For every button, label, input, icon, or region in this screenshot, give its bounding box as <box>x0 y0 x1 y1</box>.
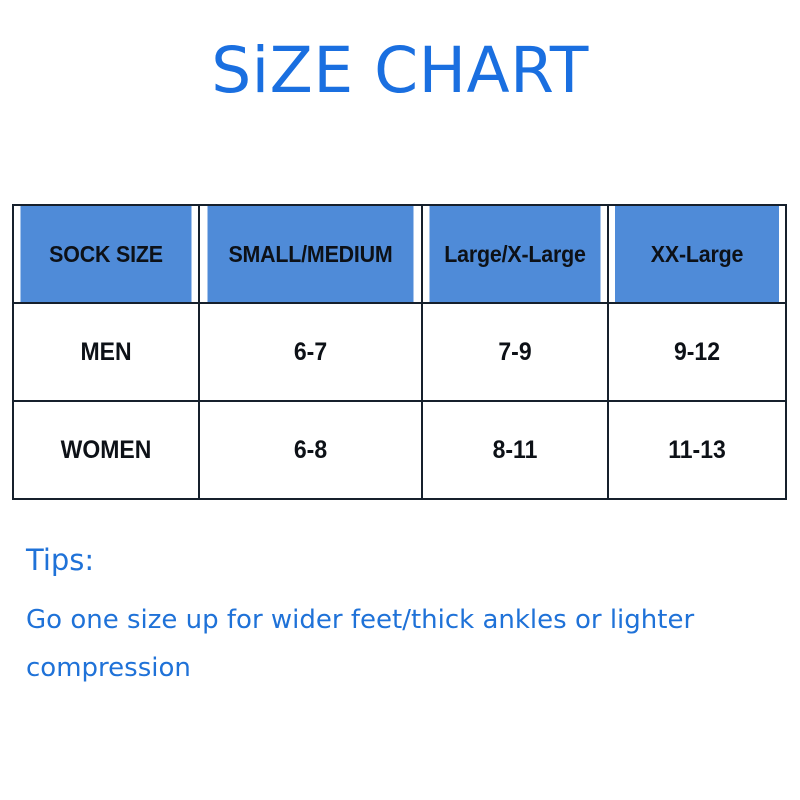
cell-women-small-medium: 6-8 <box>208 401 413 499</box>
row-label-women: WOMEN <box>20 401 191 499</box>
table-header-row: SOCK SIZE SMALL/MEDIUM Large/X-Large XX-… <box>13 205 786 303</box>
size-chart-page: SiZE CHART SOCK SIZE SMALL/MEDIUM Large/… <box>0 0 800 800</box>
row-label-men: MEN <box>20 303 191 401</box>
tips-text: Go one size up for wider feet/thick ankl… <box>26 596 726 692</box>
cell-men-large-x-large: 7-9 <box>429 303 600 401</box>
tips-label: Tips: <box>26 540 756 580</box>
cell-women-large-x-large: 8-11 <box>429 401 600 499</box>
table-row: MEN 6-7 7-9 9-12 <box>13 303 786 401</box>
cell-men-xx-large: 9-12 <box>615 303 779 401</box>
table-header: SOCK SIZE SMALL/MEDIUM Large/X-Large XX-… <box>13 205 786 303</box>
cell-men-small-medium: 6-7 <box>208 303 413 401</box>
column-header-small-medium: SMALL/MEDIUM <box>207 205 414 303</box>
table-row: WOMEN 6-8 8-11 11-13 <box>13 401 786 499</box>
cell-women-xx-large: 11-13 <box>615 401 779 499</box>
column-header-large-x-large: Large/X-Large <box>429 205 602 303</box>
column-header-xx-large: XX-Large <box>614 205 780 303</box>
size-chart-table: SOCK SIZE SMALL/MEDIUM Large/X-Large XX-… <box>12 204 787 500</box>
size-table-container: SOCK SIZE SMALL/MEDIUM Large/X-Large XX-… <box>12 204 785 500</box>
column-header-sock-size: SOCK SIZE <box>20 205 193 303</box>
page-title: SiZE CHART <box>0 38 800 104</box>
table-body: MEN 6-7 7-9 9-12 WOMEN 6-8 8-11 11-13 <box>13 303 786 499</box>
tips-section: Tips: Go one size up for wider feet/thic… <box>26 540 756 692</box>
